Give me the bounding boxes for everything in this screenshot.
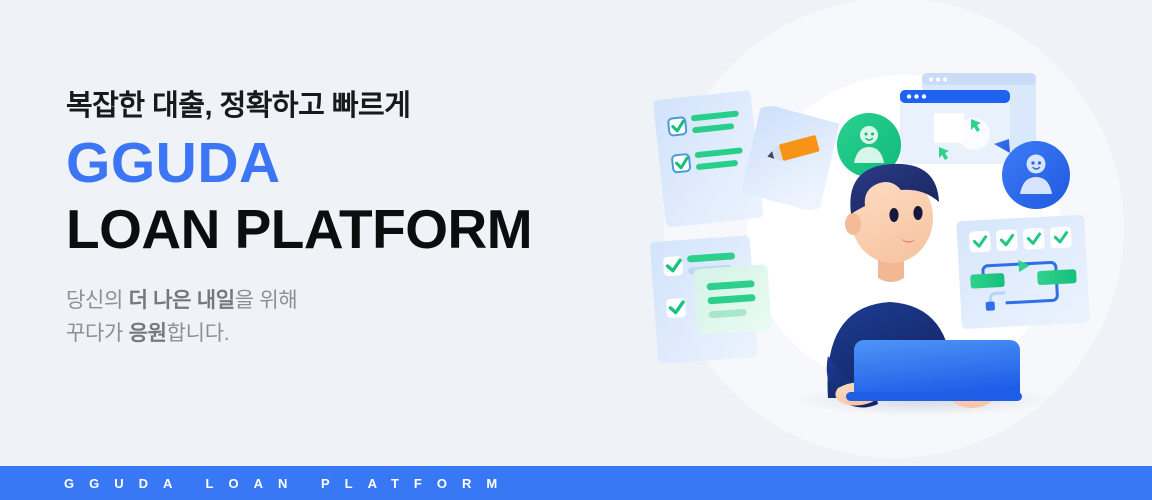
hero-brand-name: GGUDA	[66, 134, 626, 194]
tagline-line1-suffix: 을 위해	[235, 289, 298, 312]
hero-tagline-line-1: 당신의 더 나은 내일을 위해	[66, 285, 626, 318]
hero-product-name: LOAN PLATFORM	[66, 200, 626, 259]
browser-window-front	[900, 90, 1010, 164]
bottom-banner-text: GGUDA LOAN PLATFORM	[64, 476, 512, 491]
hero-tagline: 당신의 더 나은 내일을 위해 꾸다가 응원합니다.	[66, 285, 626, 350]
tagline-line2-suffix: 합니다.	[167, 322, 230, 345]
laptop	[846, 340, 1022, 401]
checklist-card-top-left	[653, 90, 764, 228]
green-note-card	[693, 264, 771, 335]
tagline-line2-prefix: 꾸다가	[66, 322, 129, 345]
workflow-card-right	[956, 215, 1089, 330]
bottom-banner: GGUDA LOAN PLATFORM	[0, 466, 1152, 500]
hero-banner-screenshot: 복잡한 대출, 정확하고 빠르게 GGUDA LOAN PLATFORM 당신의…	[0, 0, 1152, 500]
hero-tagline-line-2: 꾸다가 응원합니다.	[66, 318, 626, 351]
tagline-line2-emphasis: 응원	[129, 322, 167, 345]
tagline-line1-prefix: 당신의	[66, 289, 129, 312]
tagline-line1-emphasis: 더 나은 내일	[129, 289, 235, 312]
hero-illustration	[632, 0, 1152, 466]
hero-copy: 복잡한 대출, 정확하고 빠르게 GGUDA LOAN PLATFORM 당신의…	[66, 88, 626, 351]
hero-eyebrow: 복잡한 대출, 정확하고 빠르게	[66, 88, 626, 124]
